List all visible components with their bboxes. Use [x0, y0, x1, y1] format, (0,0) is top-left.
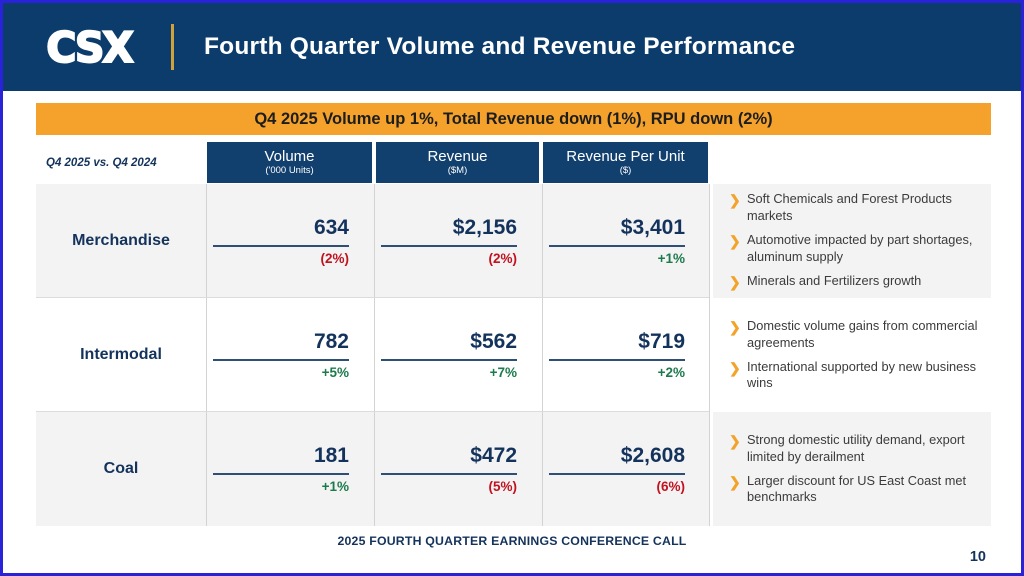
metric-change: (6%) [549, 480, 685, 495]
metric-rule [549, 473, 685, 475]
row-bullets: ❯ Domestic volume gains from commercial … [729, 298, 991, 412]
metric-change: +7% [381, 366, 517, 381]
row-bullets: ❯ Strong domestic utility demand, export… [729, 412, 991, 526]
metric-rule [381, 245, 517, 247]
bullet-text: Minerals and Fertilizers growth [747, 273, 921, 290]
column-header-unit: ($) [620, 166, 632, 176]
slide: CSX Fourth Quarter Volume and Revenue Pe… [0, 0, 1024, 576]
chevron-right-icon: ❯ [729, 273, 747, 291]
header-divider [171, 24, 174, 70]
performance-table: Q4 2025 vs. Q4 2024 Volume ('000 Units) … [36, 141, 991, 527]
metric-value: 782 [213, 330, 349, 353]
metric-value: $2,156 [381, 216, 517, 239]
list-item: ❯ International supported by new busines… [729, 359, 991, 393]
chevron-right-icon: ❯ [729, 318, 747, 336]
metric-volume: 634 (2%) [213, 184, 366, 298]
metric-change: +2% [549, 366, 685, 381]
metric-change: (2%) [213, 252, 349, 267]
metric-value: 181 [213, 444, 349, 467]
bullet-text: Domestic volume gains from commercial ag… [747, 318, 991, 352]
page-number: 10 [970, 549, 986, 565]
column-header-revenue-per-unit: Revenue Per Unit ($) [542, 141, 709, 184]
list-item: ❯ Domestic volume gains from commercial … [729, 318, 991, 352]
metric-value: 634 [213, 216, 349, 239]
row-label-intermodal: Intermodal [36, 298, 206, 412]
chevron-right-icon: ❯ [729, 359, 747, 377]
chevron-right-icon: ❯ [729, 432, 747, 450]
metric-value: $2,608 [549, 444, 685, 467]
metric-value: $472 [381, 444, 517, 467]
row-bullets: ❯ Soft Chemicals and Forest Products mar… [729, 184, 991, 298]
list-item: ❯ Strong domestic utility demand, export… [729, 432, 991, 466]
list-item: ❯ Automotive impacted by part shortages,… [729, 232, 991, 266]
metric-revenue: $562 +7% [381, 298, 534, 412]
slide-footer: 2025 FOURTH QUARTER EARNINGS CONFERENCE … [3, 529, 1021, 573]
metric-revenue: $472 (5%) [381, 412, 534, 526]
chevron-right-icon: ❯ [729, 473, 747, 491]
metric-change: +1% [549, 252, 685, 267]
metric-rule [213, 245, 349, 247]
column-header-unit: ('000 Units) [265, 166, 313, 176]
metric-revenue: $2,156 (2%) [381, 184, 534, 298]
csx-logo: CSX [29, 24, 150, 70]
column-header-title: Revenue Per Unit [566, 149, 684, 165]
bullet-text: International supported by new business … [747, 359, 991, 393]
footer-label: 2025 FOURTH QUARTER EARNINGS CONFERENCE … [3, 534, 1021, 548]
metric-rule [381, 473, 517, 475]
table-header-row: Q4 2025 vs. Q4 2024 Volume ('000 Units) … [36, 141, 991, 184]
summary-banner: Q4 2025 Volume up 1%, Total Revenue down… [36, 103, 991, 135]
metric-value: $3,401 [549, 216, 685, 239]
row-label-merchandise: Merchandise [36, 184, 206, 298]
metric-value: $562 [381, 330, 517, 353]
table-row: Intermodal 782 +5% $562 +7% $719 +2% [36, 298, 991, 412]
metric-change: +5% [213, 366, 349, 381]
metric-change: (2%) [381, 252, 517, 267]
list-item: ❯ Larger discount for US East Coast met … [729, 473, 991, 507]
column-header-title: Volume [264, 149, 314, 165]
bullet-text: Soft Chemicals and Forest Products marke… [747, 191, 991, 225]
table-row: Merchandise 634 (2%) $2,156 (2%) $3,401 … [36, 184, 991, 298]
list-item: ❯ Minerals and Fertilizers growth [729, 273, 991, 291]
metric-revenue-per-unit: $2,608 (6%) [549, 412, 702, 526]
metric-rule [549, 245, 685, 247]
column-header-revenue: Revenue ($M) [375, 141, 540, 184]
bullet-text: Automotive impacted by part shortages, a… [747, 232, 991, 266]
list-item: ❯ Soft Chemicals and Forest Products mar… [729, 191, 991, 225]
column-header-unit: ($M) [448, 166, 468, 176]
metric-volume: 181 +1% [213, 412, 366, 526]
metric-change: +1% [213, 480, 349, 495]
page-title: Fourth Quarter Volume and Revenue Perfor… [204, 33, 795, 61]
metric-rule [381, 359, 517, 361]
metric-rule [213, 473, 349, 475]
metric-rule [213, 359, 349, 361]
metric-rule [549, 359, 685, 361]
slide-header: CSX Fourth Quarter Volume and Revenue Pe… [3, 3, 1021, 91]
bullet-text: Larger discount for US East Coast met be… [747, 473, 991, 507]
chevron-right-icon: ❯ [729, 232, 747, 250]
row-label-coal: Coal [36, 412, 206, 526]
metric-change: (5%) [381, 480, 517, 495]
bullet-text: Strong domestic utility demand, export l… [747, 432, 991, 466]
metric-volume: 782 +5% [213, 298, 366, 412]
column-header-title: Revenue [427, 149, 487, 165]
column-header-volume: Volume ('000 Units) [206, 141, 373, 184]
table-corner-label: Q4 2025 vs. Q4 2024 [46, 141, 206, 184]
table-row: Coal 181 +1% $472 (5%) $2,608 (6%) [36, 412, 991, 526]
chevron-right-icon: ❯ [729, 191, 747, 209]
metric-revenue-per-unit: $719 +2% [549, 298, 702, 412]
metric-revenue-per-unit: $3,401 +1% [549, 184, 702, 298]
metric-value: $719 [549, 330, 685, 353]
